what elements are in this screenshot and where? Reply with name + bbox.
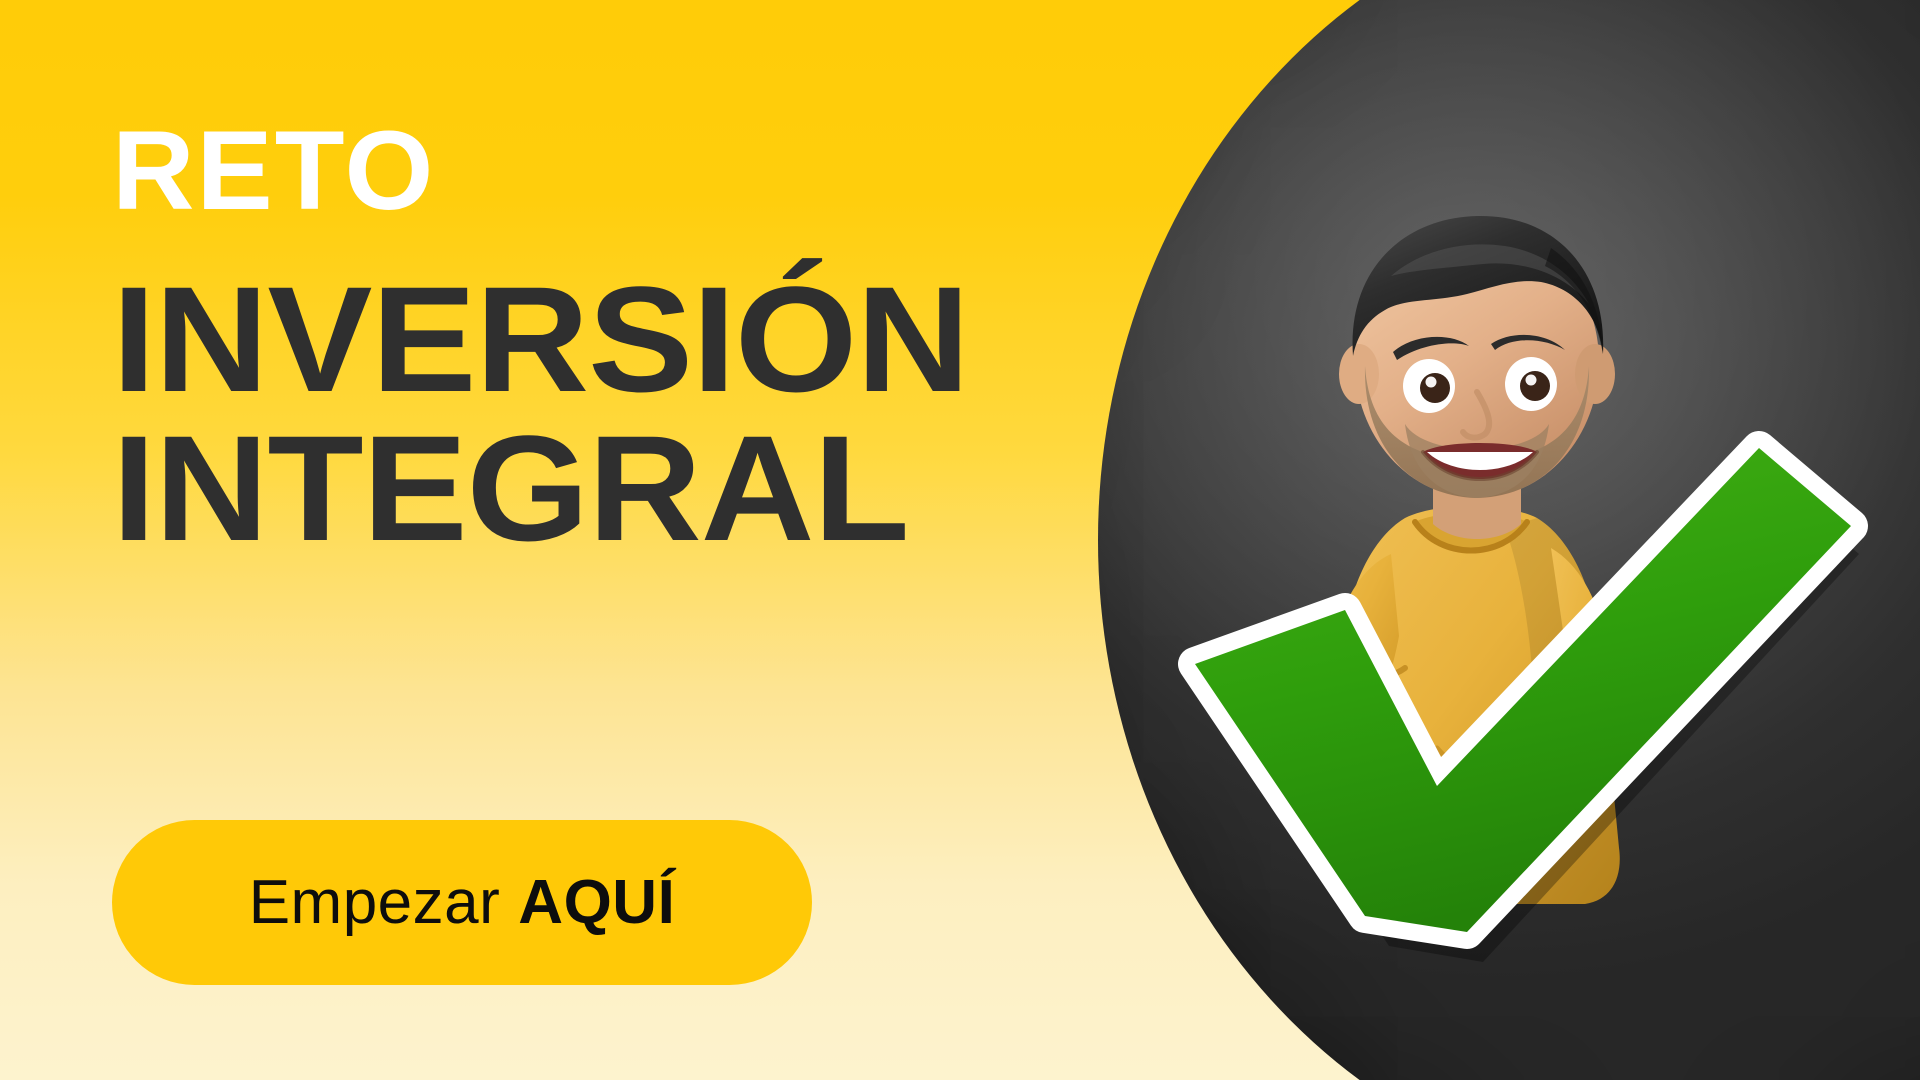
green-checkmark-icon [1175, 440, 1875, 960]
hero-copy: RETO INVERSIÓN INTEGRAL [112, 118, 1112, 559]
headline-line-2: INTEGRAL [112, 417, 1162, 560]
cta-label-regular: Empezar [249, 867, 501, 938]
eyebrow-label: RETO [112, 118, 1132, 224]
start-here-button[interactable]: Empezar AQUÍ [112, 820, 812, 985]
cta-label-bold: AQUÍ [518, 867, 675, 938]
promo-banner: RETO INVERSIÓN INTEGRAL Empezar AQUÍ [0, 0, 1920, 1080]
headline-line-1: INVERSIÓN [112, 268, 1162, 411]
page-title: INVERSIÓN INTEGRAL [112, 268, 1112, 559]
